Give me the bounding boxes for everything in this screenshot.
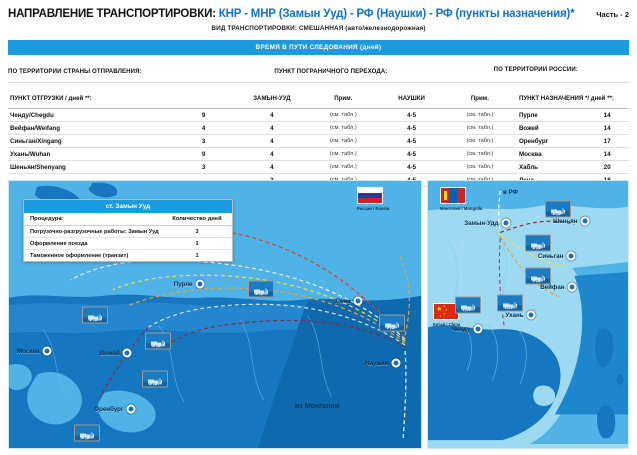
- table-row: Вейфан/Weifang44(см. табл.)4-5(см. табл.…: [8, 122, 629, 135]
- cell-departure-days: 3: [176, 138, 232, 145]
- panel-row-days: 3: [168, 229, 226, 235]
- page-title-route: КНР - МНР (Замын Ууд) - РФ (Наушки) - РФ…: [219, 8, 575, 20]
- truck-icon: [551, 203, 566, 211]
- cell-note-2: (см. табл.): [449, 138, 511, 145]
- panel-row-label: Оформление поезда: [30, 241, 168, 247]
- city-moskva[interactable]: Москва: [43, 347, 52, 356]
- cell-departure-point: Ченду/Chegdu: [8, 112, 176, 119]
- table-row: Ченду/Chegdu94(см. табл.)4-5(см. табл.)П…: [8, 109, 629, 122]
- col-departure-point: ПУНКТ ОТГРУЗКИ / дней **:: [10, 95, 92, 102]
- city-label: Лена: [336, 298, 351, 305]
- transit-badge-vozhey: 14 дней: [145, 333, 171, 350]
- transit-badge-purle: 14 дней: [248, 281, 274, 298]
- cell-zamyn-days: 4: [232, 112, 313, 119]
- panel-rows: Погрузочно-разгрузочные работы: Замын Уу…: [24, 226, 232, 261]
- cell-note-2: (см. табл.): [449, 151, 511, 158]
- panel-row-label: Погрузочно-разгрузочные работы: Замын Уу…: [30, 229, 168, 235]
- annotation-from-mongolia: из Монголии: [295, 403, 339, 410]
- flag-mongolia-caption: Монголия / Mongolia: [440, 206, 482, 211]
- city-label: Вейфан: [540, 284, 564, 291]
- truck-icon: [151, 335, 166, 343]
- panel-row-label: Таможенное оформление (транзит): [30, 253, 168, 259]
- annotation-to-russia: в РФ: [503, 189, 518, 196]
- cell-note-2: (см. табл.): [449, 125, 511, 132]
- cell-naushki-days: 4-5: [374, 138, 449, 145]
- cell-destination-point: Москва: [511, 151, 586, 158]
- transit-badge-uhan: 9 дней: [497, 295, 523, 312]
- city-vozhey[interactable]: Вожей: [123, 349, 132, 358]
- city-label: Москва: [17, 348, 40, 355]
- cell-naushki-days: 4-5: [374, 151, 449, 158]
- city-label: Замын-Удд: [464, 220, 498, 227]
- city-dot-icon: [502, 219, 511, 228]
- city-label: Наушки: [365, 360, 388, 367]
- cell-zamyn-days: 4: [232, 151, 313, 158]
- truck-icon: [461, 299, 476, 307]
- table-row: Синьган/Xingang34(см. табл.)4-5(см. табл…: [8, 135, 629, 148]
- city-dot-icon: [123, 349, 132, 358]
- city-dot-icon: [568, 283, 577, 292]
- cell-zamyn-days: 4: [232, 125, 313, 132]
- zamyn-uud-procedure-panel: ст. Замын Ууд Процедура: Количество дней…: [23, 199, 233, 262]
- city-dot-icon: [474, 325, 483, 334]
- transport-mode-subtitle: ВИД ТРАНСПОРТИРОВКИ: СМЕШАННАЯ (авто/жел…: [8, 25, 629, 32]
- city-chendu[interactable]: Ченду: [474, 325, 483, 334]
- city-shenyan[interactable]: Шеньян: [581, 217, 590, 226]
- city-uhan[interactable]: Ухань: [527, 311, 536, 320]
- col-zamyn-uud: ЗАМЫН-УУД: [253, 95, 290, 102]
- city-dot-icon: [567, 252, 576, 261]
- group-departure-country: ПО ТЕРРИТОРИИ СТРАНЫ ОТПРАВЛЕНИЯ:: [8, 68, 142, 75]
- truck-icon: [503, 297, 518, 305]
- city-naushki[interactable]: Наушки: [392, 359, 401, 368]
- cell-note-1: (см. табл.): [312, 164, 374, 171]
- transit-badge-khabl: 20 дней: [74, 425, 100, 442]
- cell-naushki-days: 4-5: [374, 125, 449, 132]
- truck-icon: [148, 373, 163, 381]
- city-singan[interactable]: Синьган: [567, 252, 576, 261]
- col-naushki: НАУШКИ: [398, 95, 425, 102]
- maps-area: Россия / Russia ст. Замын Ууд Процедура:…: [8, 180, 629, 449]
- panel-row: Оформление поезда1: [24, 238, 232, 250]
- city-label: Шеньян: [553, 218, 578, 225]
- truck-icon: [254, 283, 269, 291]
- part-label: Часть - 2: [596, 10, 629, 19]
- city-veyfan[interactable]: Вейфан: [568, 283, 577, 292]
- table-subheader-row: ПУНКТ ОТГРУЗКИ / дней **: ЗАМЫН-УУД Прим…: [8, 83, 629, 109]
- panel-title: ст. Замын Ууд: [24, 200, 232, 213]
- city-label: Ченду: [452, 326, 471, 333]
- russia-flag-icon: [357, 187, 383, 204]
- cell-destination-point: Вожей: [511, 125, 586, 132]
- group-border-crossing: ПУНКТ ПОГРАНИЧНОГО ПЕРЕХОДА:: [274, 68, 387, 75]
- transit-badge-lena: 4 дня: [379, 315, 405, 332]
- table-body: Ченду/Chegdu94(см. табл.)4-5(см. табл.)П…: [8, 109, 629, 187]
- cell-naushki-days: 4-5: [374, 164, 449, 171]
- table-band-title: ВРЕМЯ В ПУТИ СЛЕДОВАНИЯ (дней): [8, 40, 629, 55]
- city-dot-icon: [196, 280, 205, 289]
- transit-badge-chendu: 9 дней: [455, 297, 481, 314]
- city-dot-icon: [43, 347, 52, 356]
- cell-departure-days: 9: [176, 112, 232, 119]
- cell-note-2: (см. табл.): [449, 112, 511, 119]
- cell-note-1: (см. табл.): [312, 138, 374, 145]
- panel-row: Таможенное оформление (транзит)1: [24, 250, 232, 261]
- group-russia-territory: ПО ТЕРРИТОРИИ РОССИИ:: [443, 66, 629, 73]
- cell-note-1: (см. табл.): [312, 125, 374, 132]
- map-russia[interactable]: Россия / Russia ст. Замын Ууд Процедура:…: [8, 180, 422, 449]
- cell-destination-days: 14: [585, 125, 628, 132]
- city-orenburg[interactable]: Оренбург: [127, 405, 136, 414]
- cell-departure-point: Ухань/Wuhan: [8, 151, 176, 158]
- panel-row-days: 1: [168, 241, 226, 247]
- transit-badge-orenburg: 17 дней: [142, 371, 168, 388]
- transit-badge-shenyan: 3 дня: [545, 201, 571, 218]
- transit-badge-singan: 3 дня: [525, 235, 551, 252]
- page-title-prefix: НАПРАВЛЕНИЕ ТРАНСПОРТИРОВКИ:: [8, 8, 216, 20]
- cell-departure-days: 3: [176, 164, 232, 171]
- city-label: Пурле: [174, 281, 193, 288]
- panel-subheader: Процедура: Количество дней: [24, 213, 232, 226]
- truck-icon: [531, 270, 546, 278]
- panel-row-days: 1: [168, 253, 226, 259]
- cell-destination-point: Хабль: [511, 164, 586, 171]
- truck-icon: [385, 317, 400, 325]
- mongolia-flag-icon: [440, 187, 466, 204]
- city-label: Синьган: [538, 253, 564, 260]
- truck-icon: [80, 427, 95, 435]
- table-group-header-row: ПО ТЕРРИТОРИИ СТРАНЫ ОТПРАВЛЕНИЯ: ПУНКТ …: [8, 55, 629, 83]
- flag-russia-caption: Россия / Russia: [357, 206, 389, 211]
- transit-time-table: ВРЕМЯ В ПУТИ СЛЕДОВАНИЯ (дней) ПО ТЕРРИТ…: [8, 40, 629, 187]
- truck-icon: [531, 237, 546, 245]
- page-header: НАПРАВЛЕНИЕ ТРАНСПОРТИРОВКИ: КНР - МНР (…: [0, 0, 637, 32]
- panel-row: Погрузочно-разгрузочные работы: Замын Уу…: [24, 226, 232, 238]
- cell-destination-days: 20: [585, 164, 628, 171]
- cell-departure-point: Вейфан/Weifang: [8, 125, 176, 132]
- city-label: Ухань: [505, 312, 523, 319]
- col-note-2: Прим.: [471, 95, 489, 102]
- city-label: Оренбург: [94, 406, 123, 413]
- map-china-mongolia[interactable]: Монголия / Mongolia ★ ★ ★ ★ ★ Китай / Ch…: [427, 180, 629, 449]
- city-dot-icon: [354, 297, 363, 306]
- city-zamyn-udd[interactable]: Замын-Удд: [502, 219, 511, 228]
- col-note-1: Прим.: [334, 95, 352, 102]
- cell-note-2: (см. табл.): [449, 164, 511, 171]
- city-dot-icon: [581, 217, 590, 226]
- flag-mongolia: Монголия / Mongolia: [440, 187, 482, 211]
- cell-note-1: (см. табл.): [312, 151, 374, 158]
- cell-destination-point: Оренбург: [511, 138, 586, 145]
- city-dot-icon: [392, 359, 401, 368]
- table-row: Ухань/Wuhan94(см. табл.)4-5(см. табл.)Мо…: [8, 148, 629, 161]
- city-purle[interactable]: Пурле: [196, 280, 205, 289]
- city-lena[interactable]: Лена: [354, 297, 363, 306]
- cell-destination-days: 14: [585, 112, 628, 119]
- transit-badge-veyfan: 4 дня: [525, 268, 551, 285]
- panel-col-procedure: Процедура:: [30, 216, 168, 222]
- cell-naushki-days: 4-5: [374, 112, 449, 119]
- col-destination-point: ПУНКТ НАЗНАЧЕНИЯ */ дней **:: [519, 95, 614, 102]
- table-row: Шеньян/Shenyang34(см. табл.)4-5(см. табл…: [8, 161, 629, 174]
- cell-departure-days: 9: [176, 151, 232, 158]
- panel-col-days: Количество дней: [168, 216, 226, 222]
- cell-note-1: (см. табл.): [312, 112, 374, 119]
- city-label: Вожей: [100, 350, 120, 357]
- title-row: НАПРАВЛЕНИЕ ТРАНСПОРТИРОВКИ: КНР - МНР (…: [8, 8, 629, 20]
- cell-departure-point: Синьган/Xingang: [8, 138, 176, 145]
- cell-departure-days: 4: [176, 125, 232, 132]
- flag-russia: Россия / Russia: [357, 187, 389, 211]
- cell-destination-days: 14: [585, 151, 628, 158]
- transit-badge-moskva: 14 дней: [82, 307, 108, 324]
- cell-departure-point: Шеньян/Shenyang: [8, 164, 176, 171]
- city-dot-icon: [527, 311, 536, 320]
- truck-icon: [88, 309, 103, 317]
- cell-zamyn-days: 4: [232, 138, 313, 145]
- cell-destination-days: 17: [585, 138, 628, 145]
- city-dot-icon: [127, 405, 136, 414]
- cell-destination-point: Пурле: [511, 112, 586, 119]
- cell-zamyn-days: 4: [232, 164, 313, 171]
